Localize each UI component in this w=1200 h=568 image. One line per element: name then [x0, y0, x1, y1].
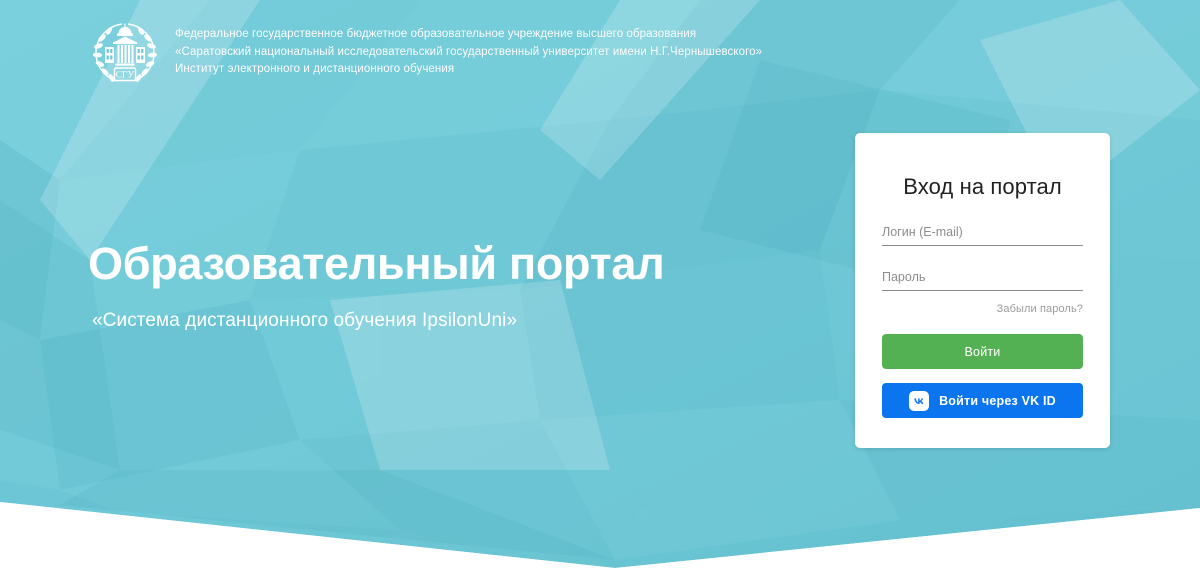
forgot-password-link[interactable]: Забыли пароль?	[997, 303, 1083, 315]
login-card: Вход на портал Забыли пароль? Войти Войт…	[855, 133, 1110, 448]
site-header: СГУ Федеральное государственное бюджетно…	[0, 0, 1200, 100]
login-field-wrapper	[882, 223, 1083, 246]
sgu-emblem-icon: СГУ	[88, 18, 162, 88]
login-page: СГУ Федеральное государственное бюджетно…	[0, 0, 1200, 568]
login-card-title: Вход на портал	[882, 133, 1083, 201]
vk-id-login-button[interactable]: Войти через VK ID	[882, 383, 1083, 418]
login-input[interactable]	[882, 225, 1083, 246]
submit-login-button[interactable]: Войти	[882, 334, 1083, 369]
org-line-3: Институт электронного и дистанционного о…	[175, 61, 762, 79]
password-field-wrapper	[882, 268, 1083, 291]
org-line-1: Федеральное государственное бюджетное об…	[175, 26, 762, 44]
org-line-2: «Саратовский национальный исследовательс…	[175, 44, 762, 62]
forgot-password-row: Забыли пароль?	[882, 299, 1083, 317]
organization-name-block: Федеральное государственное бюджетное об…	[175, 18, 762, 79]
hero-block: Образовательный портал «Система дистанци…	[88, 238, 664, 334]
page-subtitle: «Система дистанционного обучения Ipsilon…	[88, 308, 664, 334]
logo-caption: СГУ	[116, 70, 135, 80]
vk-logo-icon	[909, 391, 929, 411]
password-input[interactable]	[882, 270, 1083, 291]
vk-id-login-label: Войти через VK ID	[939, 394, 1056, 408]
page-title: Образовательный портал	[88, 238, 664, 290]
